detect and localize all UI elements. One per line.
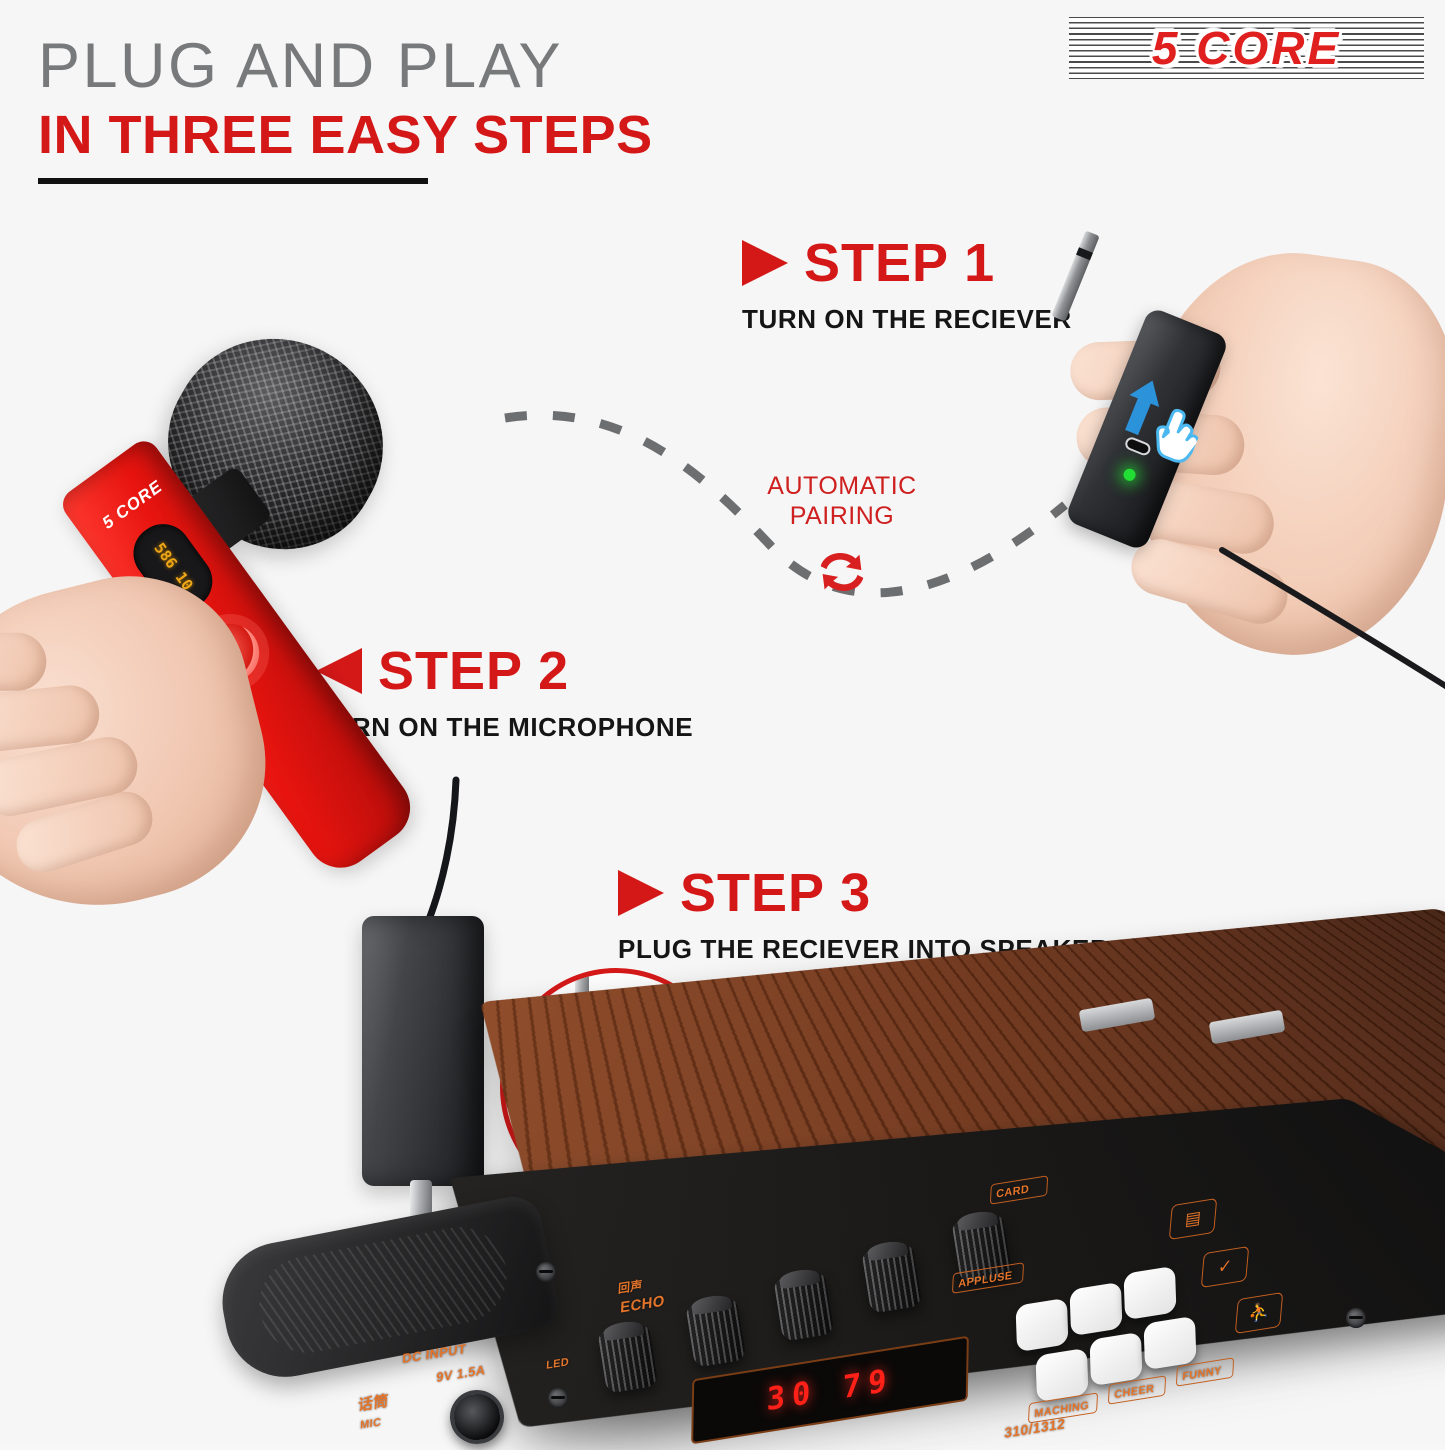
speaker-illustration: ▤ ✓ ⛹ 30 79 DC INPUT 9V 1.5A MIC 话筒 LED … [150, 990, 1445, 1450]
page-title: PLUG AND PLAY IN THREE EASY STEPS [38, 34, 653, 184]
receiver-antenna-cable [1216, 544, 1445, 694]
brand-logo: 5 CORE [1069, 17, 1424, 79]
control-knob[interactable] [685, 1298, 746, 1367]
sync-arrows-icon [811, 541, 873, 603]
label-dc-rating: 9V 1.5A [436, 1362, 486, 1385]
dc-input-screw [548, 1388, 568, 1408]
label-model-number: 310/1312 [1004, 1415, 1066, 1441]
effect-pad[interactable] [1144, 1316, 1197, 1370]
title-underline [38, 178, 428, 184]
status-led [1122, 467, 1138, 483]
label-mic-cn: 话筒 [358, 1389, 390, 1415]
receiver-jack-plug [1051, 231, 1099, 322]
pairing-line-1: AUTOMATIC [752, 472, 932, 502]
control-knob[interactable] [861, 1244, 922, 1313]
panel-screw [1346, 1308, 1366, 1328]
step-1-title: STEP 1 [804, 236, 995, 290]
step-3-title: STEP 3 [680, 866, 871, 920]
automatic-pairing-callout: AUTOMATIC PAIRING [752, 472, 932, 608]
pairing-line-2: PAIRING [752, 502, 932, 532]
title-subtitle: IN THREE EASY STEPS [38, 107, 653, 164]
effect-pad[interactable] [1124, 1266, 1177, 1320]
control-knob[interactable] [597, 1324, 658, 1393]
arrow-right-icon [618, 870, 664, 916]
mic-input-jack[interactable] [446, 1386, 508, 1448]
speaker-display-value: 30 79 [766, 1362, 893, 1419]
control-knob[interactable] [773, 1272, 834, 1341]
receiver-illustration [1020, 218, 1445, 688]
arrow-right-icon [742, 240, 788, 286]
effect-pad[interactable] [1070, 1282, 1123, 1336]
effect-pad[interactable] [1016, 1298, 1069, 1352]
effect-pad[interactable] [1090, 1332, 1143, 1386]
infographic-canvas: PLUG AND PLAY IN THREE EASY STEPS 5 CORE… [0, 0, 1445, 1445]
panel-screw [536, 1262, 556, 1282]
title-main: PLUG AND PLAY [38, 34, 653, 98]
logo-text: 5 CORE [1069, 17, 1424, 79]
label-mic: MIC [360, 1416, 382, 1432]
finger [0, 633, 46, 691]
